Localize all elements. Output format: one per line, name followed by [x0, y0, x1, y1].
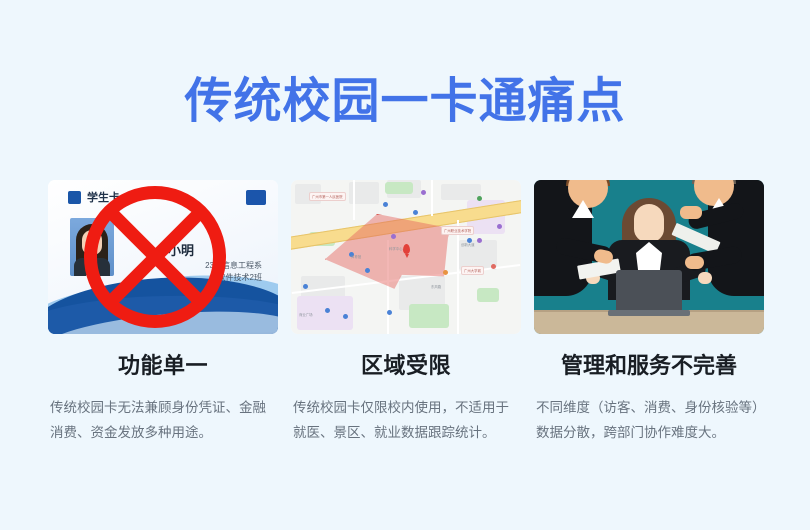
map-road	[457, 220, 459, 334]
card-image-student-id: 学生卡 小明 23级信息工程系 软件技术2班	[48, 180, 278, 334]
map-poi-dot	[391, 234, 396, 239]
map-poi-dot	[497, 224, 502, 229]
map-poi-dot	[443, 270, 448, 275]
map-poi-dot	[383, 202, 388, 207]
pain-point-card-list: 学生卡 小明 23级信息工程系 软件技术2班 功能单一 传统校园卡	[48, 180, 764, 446]
map-label: 商业广场	[299, 312, 313, 317]
map-label: 东风路	[431, 284, 441, 289]
card-image-campus-map: 广州市第一人民医院 广州职业技术学院 广州大学城 科学中心 体育馆 东风路 商业…	[291, 180, 521, 334]
map-road	[431, 180, 433, 216]
map-poi-dot	[477, 238, 482, 243]
card-caption: 功能单一 传统校园卡无法兼顾身份凭证、金融消费、资金发放多种用途。	[48, 354, 278, 446]
map-poi-dot	[421, 190, 426, 195]
map-pin-icon	[403, 244, 410, 254]
pain-point-card-function-single: 学生卡 小明 23级信息工程系 软件技术2班 功能单一 传统校园卡	[48, 180, 278, 446]
card-image-office-illustration	[534, 180, 764, 334]
map-label: 体育馆	[351, 254, 361, 259]
page-title: 传统校园一卡通痛点	[0, 78, 810, 126]
office-staff-graphic	[534, 180, 764, 334]
card-description: 传统校园卡无法兼顾身份凭证、金融消费、资金发放多种用途。	[48, 396, 278, 446]
woman-face	[634, 204, 664, 242]
map-poi-dot	[343, 314, 348, 319]
card-badge-icon	[246, 190, 266, 205]
map-label: 科学中心	[389, 246, 403, 251]
campus-map-graphic: 广州市第一人民医院 广州职业技术学院 广州大学城 科学中心 体育馆 东风路 商业…	[291, 180, 521, 334]
card-caption: 管理和服务不完善 不同维度（访客、消费、身份核验等）数据分散，跨部门协作难度大。	[534, 354, 764, 446]
map-poi-dot	[365, 268, 370, 273]
map-block	[441, 184, 481, 200]
map-road	[353, 180, 355, 220]
laptop-screen	[616, 270, 682, 312]
card-caption: 区域受限 传统校园卡仅限校内使用，不适用于就医、景区、就业数据跟踪统计。	[291, 354, 521, 446]
card-title: 功能单一	[48, 354, 278, 378]
right-man-hand	[685, 256, 704, 269]
pain-point-card-area-limited: 广州市第一人民医院 广州职业技术学院 广州大学城 科学中心 体育馆 东风路 商业…	[291, 180, 521, 446]
map-label: 创新大道	[461, 242, 475, 247]
map-poi-dot	[303, 284, 308, 289]
map-poi-dot	[491, 264, 496, 269]
map-green-area	[409, 304, 449, 328]
pain-point-card-management-service: 管理和服务不完善 不同维度（访客、消费、身份核验等）数据分散，跨部门协作难度大。	[534, 180, 764, 446]
school-logo-icon	[68, 191, 81, 204]
map-poi-dot	[413, 210, 418, 215]
map-poi-dot	[325, 308, 330, 313]
map-callout-label: 广州职业技术学院	[441, 226, 474, 235]
map-poi-dot	[477, 196, 482, 201]
card-title: 管理和服务不完善	[534, 354, 764, 378]
card-title: 区域受限	[291, 354, 521, 378]
map-callout-label: 广州大学城	[461, 266, 484, 275]
card-description: 传统校园卡仅限校内使用，不适用于就医、景区、就业数据跟踪统计。	[291, 396, 521, 446]
right-man-pointing-hand	[680, 206, 702, 219]
map-poi-dot	[387, 310, 392, 315]
map-green-area	[385, 182, 413, 194]
map-callout-label: 广州市第一人民医院	[309, 192, 346, 201]
map-green-area	[477, 288, 499, 302]
red-cross-prohibition-icon	[84, 186, 226, 328]
laptop-base	[608, 310, 690, 316]
woman-right-hand	[698, 272, 712, 284]
card-description: 不同维度（访客、消费、身份核验等）数据分散，跨部门协作难度大。	[534, 396, 764, 446]
